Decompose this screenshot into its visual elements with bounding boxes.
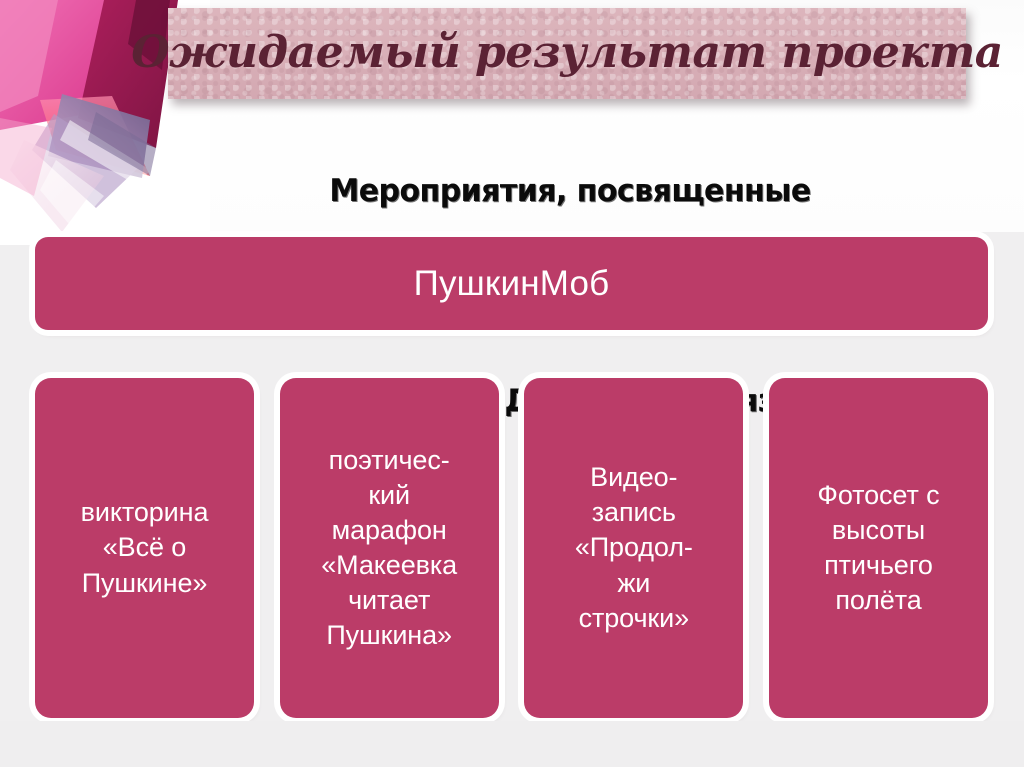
activity-card-4-label: Фотосет с высоты птичьего полёта <box>817 478 939 618</box>
activity-card-2[interactable]: поэтичес- кий марафон «Макеевка читает П… <box>280 378 499 718</box>
banner-wrapper: ПушкинМоб <box>35 237 988 330</box>
subheading-line-1: Мероприятия, посвященные <box>172 174 967 209</box>
page-title: Ожидаемый результат проекта <box>131 31 1003 75</box>
activity-card-3-label: Видео- запись «Продол- жи строчки» <box>575 460 693 635</box>
activity-card-3[interactable]: Видео- запись «Продол- жи строчки» <box>524 378 743 718</box>
slide-canvas: Ожидаемый результат проекта Мероприятия,… <box>0 0 1024 767</box>
activity-card-row: викторина «Всё о Пушкине» поэтичес- кий … <box>35 378 988 718</box>
activity-card-1[interactable]: викторина «Всё о Пушкине» <box>35 378 254 718</box>
activity-card-2-label: поэтичес- кий марафон «Макеевка читает П… <box>321 443 457 654</box>
slide-title-bar: Ожидаемый результат проекта <box>168 8 966 99</box>
bottom-strip <box>0 721 1024 767</box>
activity-card-1-label: викторина «Всё о Пушкине» <box>81 495 209 600</box>
activity-card-4[interactable]: Фотосет с высоты птичьего полёта <box>769 378 988 718</box>
banner-pushkinmob[interactable]: ПушкинМоб <box>35 237 988 330</box>
